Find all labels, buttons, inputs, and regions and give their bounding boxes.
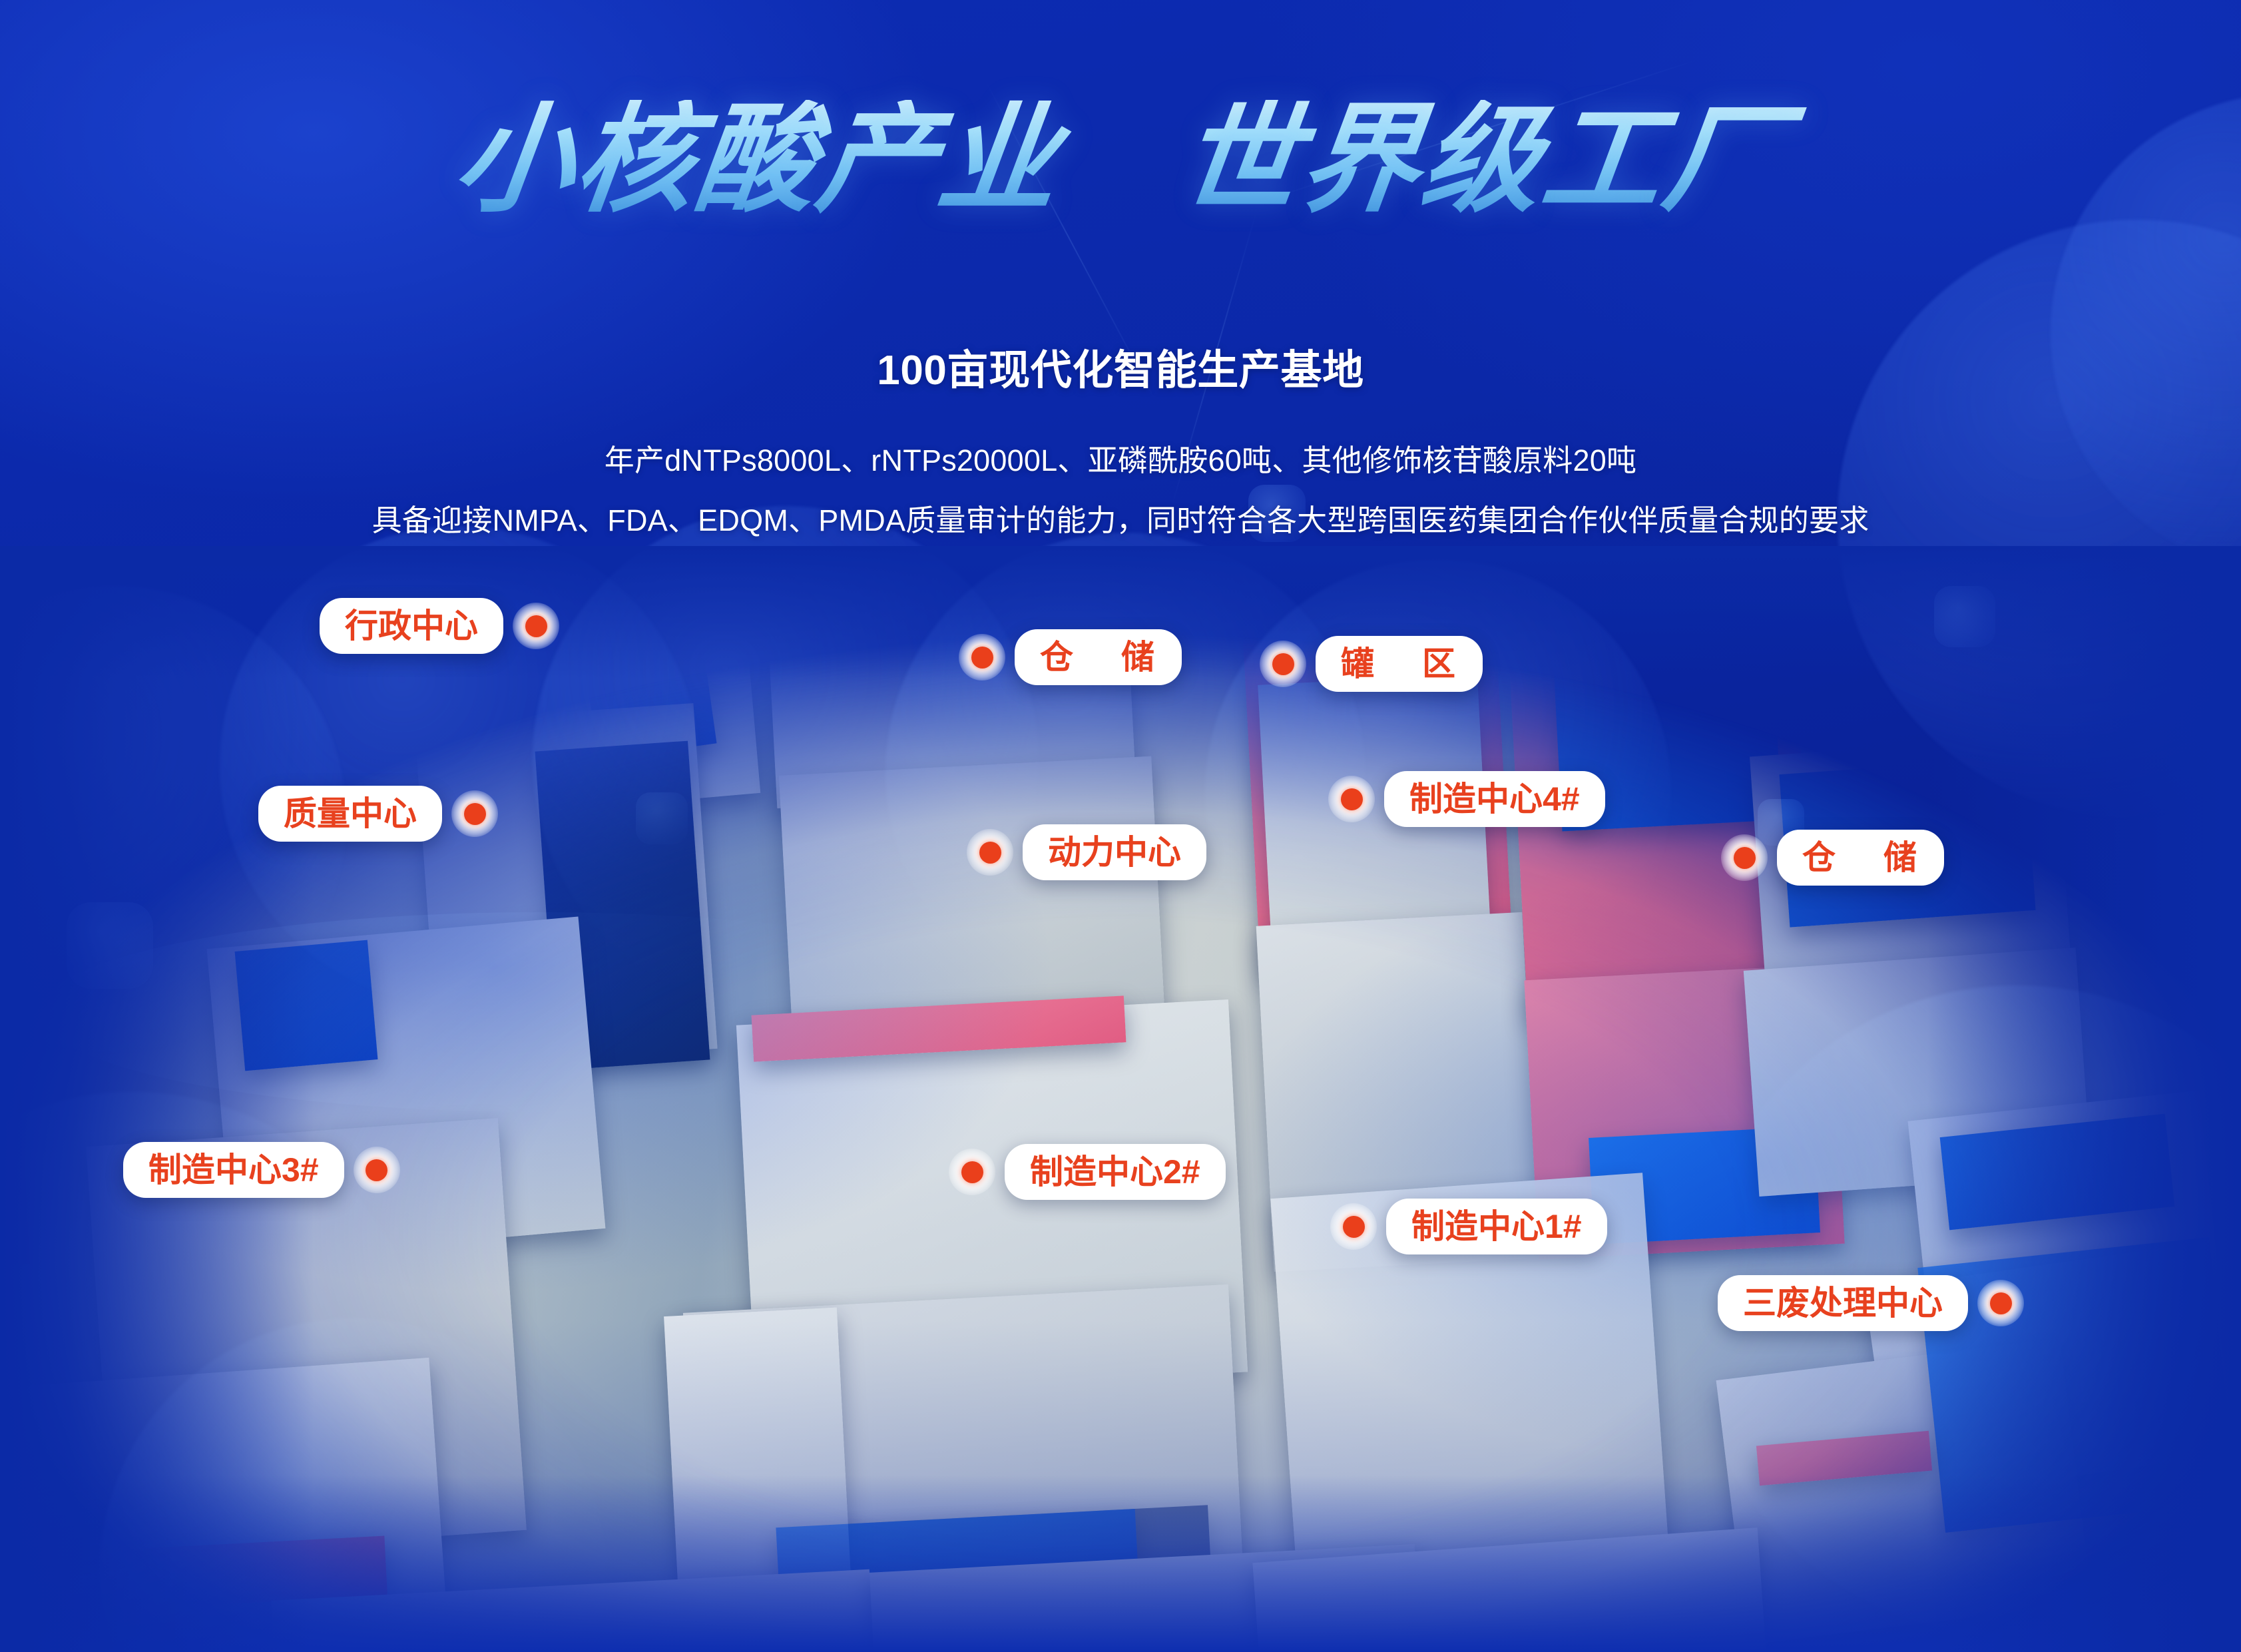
map-marker-waste-treatment[interactable]: 三废处理中心 — [1718, 1275, 2024, 1331]
page-title: 小核酸产业 世界级工厂 — [0, 100, 2241, 218]
spec-line-capacity: 年产dNTPs8000L、rNTPs20000L、亚磷酰胺60吨、其他修饰核苷酸… — [0, 436, 2241, 479]
map-marker-manufacturing-1[interactable]: 制造中心1# — [1330, 1199, 1607, 1254]
location-dot-icon — [1721, 834, 1768, 881]
map-marker-label: 仓 储 — [1015, 629, 1182, 685]
aerial-factory-photo — [0, 546, 2241, 1652]
map-marker-label: 仓 储 — [1777, 830, 1944, 886]
spec-line-compliance: 具备迎接NMPA、FDA、EDQM、PMDA质量审计的能力，同时符合各大型跨国医… — [0, 496, 2241, 539]
map-marker-quality-center[interactable]: 质量中心 — [258, 786, 498, 842]
map-marker-administration[interactable]: 行政中心 — [320, 598, 559, 654]
map-marker-label: 动力中心 — [1023, 824, 1206, 880]
location-dot-icon — [959, 634, 1005, 681]
location-dot-icon — [949, 1149, 995, 1195]
map-marker-manufacturing-2[interactable]: 制造中心2# — [949, 1144, 1226, 1200]
location-dot-icon — [967, 829, 1013, 876]
subheading: 100亩现代化智能生产基地 — [0, 336, 2241, 396]
map-marker-label: 罐 区 — [1316, 636, 1483, 692]
location-dot-icon — [1330, 1203, 1377, 1250]
location-dot-icon — [1977, 1280, 2024, 1326]
map-marker-label: 制造中心3# — [123, 1142, 344, 1198]
map-marker-label: 制造中心1# — [1386, 1199, 1607, 1254]
location-dot-icon — [1260, 641, 1306, 687]
map-marker-label: 制造中心2# — [1005, 1144, 1226, 1200]
map-marker-manufacturing-3[interactable]: 制造中心3# — [123, 1142, 400, 1198]
map-marker-label: 质量中心 — [258, 786, 442, 842]
map-marker-label: 行政中心 — [320, 598, 503, 654]
map-marker-power-center[interactable]: 动力中心 — [967, 824, 1206, 880]
map-marker-warehouse-top[interactable]: 仓 储 — [959, 629, 1182, 685]
map-marker-tank-area[interactable]: 罐 区 — [1260, 636, 1483, 692]
map-marker-label: 制造中心4# — [1384, 771, 1605, 827]
map-marker-label: 三废处理中心 — [1718, 1275, 1968, 1331]
location-dot-icon — [1328, 776, 1375, 822]
location-dot-icon — [451, 790, 498, 837]
map-marker-manufacturing-4[interactable]: 制造中心4# — [1328, 771, 1605, 827]
poster-root: 小核酸产业 世界级工厂 100亩现代化智能生产基地 年产dNTPs8000L、r… — [0, 0, 2241, 1652]
location-dot-icon — [513, 603, 559, 649]
map-marker-warehouse-right[interactable]: 仓 储 — [1721, 830, 1944, 886]
location-dot-icon — [354, 1147, 400, 1193]
